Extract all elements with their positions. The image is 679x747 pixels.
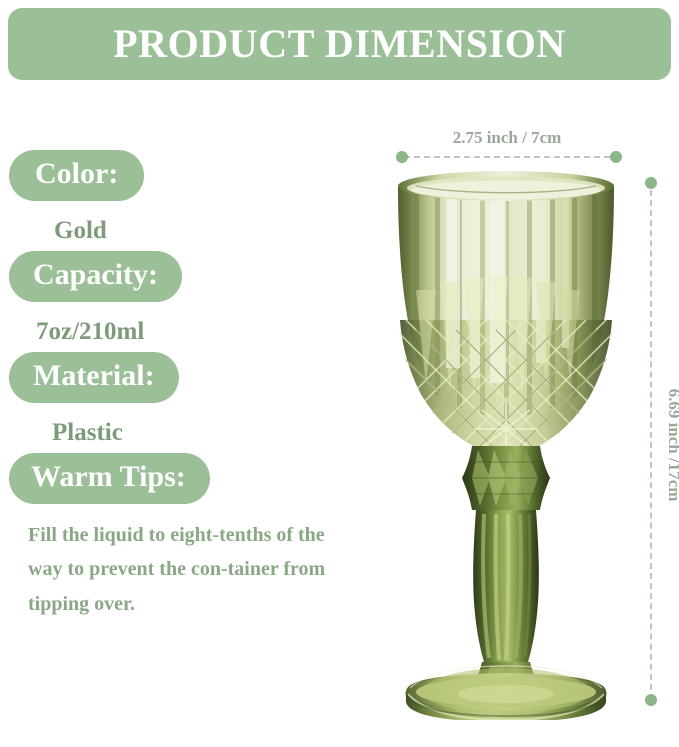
spec-label-material: Material: — [9, 352, 179, 403]
spec-item-color: Color: Gold — [0, 150, 370, 243]
spec-item-capacity: Capacity: 7oz/210ml — [0, 251, 370, 344]
page-title: PRODUCT DIMENSION — [113, 24, 566, 64]
warm-tips-text: Fill the liquid to eight-tenths of the w… — [28, 518, 340, 621]
goblet-bowl — [386, 171, 626, 470]
goblet-illustration — [386, 170, 626, 720]
width-dimension-label: 2.75 inch / 7cm — [397, 128, 617, 148]
spec-label-capacity: Capacity: — [9, 251, 182, 302]
warm-tips-section: Warm Tips: Fill the liquid to eight-tent… — [0, 453, 370, 621]
height-dimension-line — [650, 190, 652, 700]
spec-value-capacity: 7oz/210ml — [36, 319, 370, 344]
header-banner: PRODUCT DIMENSION — [8, 8, 671, 80]
goblet-stem — [462, 446, 550, 700]
spec-list: Color: Gold Capacity: 7oz/210ml Material… — [0, 150, 370, 629]
product-image-goblet — [386, 170, 626, 720]
height-endpoint-top-dot — [645, 177, 657, 189]
spec-item-material: Material: Plastic — [0, 352, 370, 445]
height-endpoint-bottom-dot — [645, 694, 657, 706]
height-dimension-label: 6.69 inch /17cm — [664, 375, 679, 515]
width-dimension-line — [404, 156, 610, 158]
warm-tips-label: Warm Tips: — [9, 453, 210, 504]
width-endpoint-left-dot — [396, 151, 408, 163]
width-endpoint-right-dot — [610, 151, 622, 163]
spec-value-color: Gold — [54, 218, 370, 243]
spec-value-material: Plastic — [52, 420, 370, 445]
spec-label-color: Color: — [9, 150, 144, 201]
goblet-base — [406, 666, 606, 720]
